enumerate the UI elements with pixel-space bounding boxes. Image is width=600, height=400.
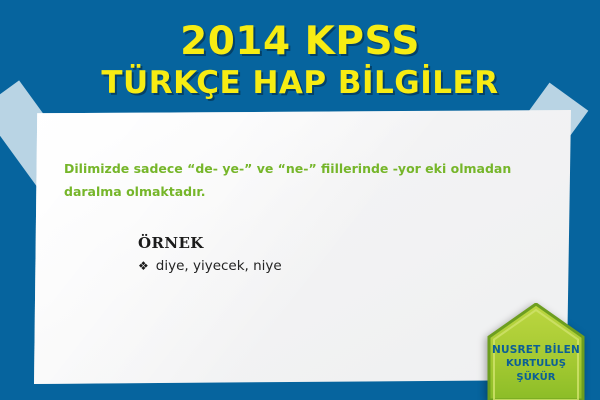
diamond-bullet-icon: ❖ (138, 260, 149, 272)
page-title-line-1: 2014 KPSS (0, 0, 600, 61)
card-body-text: Dilimizde sadece “de- ye-” ve “ne-” fiil… (64, 157, 540, 203)
pentagon-badge-icon (486, 303, 586, 400)
slide-canvas: 2014 KPSS TÜRKÇE HAP BİLGİLER Dilimizde … (0, 0, 600, 400)
page-title-line-2: TÜRKÇE HAP BİLGİLER (0, 61, 600, 99)
list-item: ❖ diye, yiyecek, niye (138, 258, 282, 274)
example-block: ÖRNEK ❖ diye, yiyecek, niye (138, 234, 282, 274)
example-item-text: diye, yiyecek, niye (156, 258, 282, 274)
credits-badge: NUSRET BİLEN KURTULUŞ ŞÜKÜR (486, 303, 586, 400)
example-heading: ÖRNEK (138, 234, 282, 252)
header: 2014 KPSS TÜRKÇE HAP BİLGİLER (0, 0, 600, 108)
